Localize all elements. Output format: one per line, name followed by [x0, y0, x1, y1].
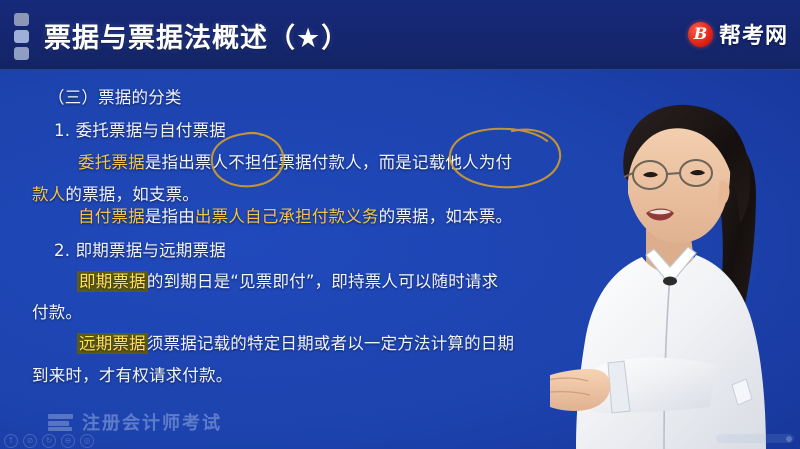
slide-line-item-2: 2. 即期票据与远期票据: [54, 237, 226, 261]
header-mark-1: [14, 13, 29, 26]
lecture-video-frame: 票据与票据法概述（★） B 帮考网 （三）票据的分类 1. 委托票据与自付票据 …: [0, 0, 800, 449]
slide-line-1-def-b-rest: 的票据，如支票。: [65, 185, 199, 204]
slide-line-item-1: 1. 委托票据与自付票据: [54, 117, 226, 141]
player-control-3[interactable]: ↻: [42, 434, 56, 448]
header-mark-2: [14, 30, 29, 43]
term-zifu-piaoju: 自付票据: [78, 207, 145, 226]
page-title: 票据与票据法概述（★）: [44, 16, 349, 55]
watermark-text: 注册会计师考试: [82, 409, 222, 435]
watermark: 注册会计师考试: [48, 409, 222, 435]
player-control-5[interactable]: ◎: [80, 434, 94, 448]
slide-line-4-cont: 到来时，才有权请求付款。: [32, 362, 232, 386]
slide-line-1-def-a: 委托票据是指出票人不担任票据付款人，而是记载他人为付: [78, 149, 512, 173]
slide-header-bar: 票据与票据法概述（★） B 帮考网: [0, 0, 800, 70]
slide-line-3-def-rest: 的到期日是“见票即付”，即持票人可以随时请求: [147, 272, 499, 291]
term-chupiaoren-chengdan: 出票人自己承担付款义务: [195, 207, 379, 226]
term-weituo-piaoju: 委托票据: [78, 153, 145, 172]
header-decor-marks: [14, 13, 29, 60]
header-mark-3: [14, 47, 29, 60]
presenter-figure: [550, 89, 800, 449]
slide-line-1-def-b: 款人的票据，如支票。: [32, 181, 199, 205]
slide-line-1-def-a-rest: 是指出票人不担任票据付款人，而是记载他人为付: [145, 153, 512, 172]
player-progress-pill[interactable]: [716, 434, 794, 443]
player-controls[interactable]: ↑ ⊘ ↻ ⊖ ◎: [4, 434, 94, 448]
term-kuanren: 款人: [32, 185, 65, 204]
slide-line-4-def: 远期票据须票据记载的特定日期或者以一定方法计算的日期: [78, 330, 514, 354]
slide-line-2-def-end: 的票据，如本票。: [379, 207, 513, 226]
slide-line-2-def-mid: 是指由: [145, 207, 195, 226]
presenter-collar-stud: [663, 277, 677, 286]
slide-line-3-def: 即期票据的到期日是“见票即付”，即持票人可以随时请求: [78, 268, 498, 292]
player-control-1[interactable]: ↑: [4, 434, 18, 448]
slide-line-2-def: 自付票据是指由出票人自己承担付款义务的票据，如本票。: [78, 203, 512, 227]
brand-badge-icon: B: [688, 22, 713, 47]
slide-line-section-heading: （三）票据的分类: [48, 84, 182, 108]
player-control-2[interactable]: ⊘: [23, 434, 37, 448]
player-control-4[interactable]: ⊖: [61, 434, 75, 448]
book-icon: [48, 414, 73, 431]
brand-logo: B 帮考网: [688, 18, 788, 50]
brand-name: 帮考网: [719, 18, 788, 50]
slide-line-4-def-rest: 须票据记载的特定日期或者以一定方法计算的日期: [147, 334, 514, 353]
term-yuanqi-piaoju: 远期票据: [78, 334, 147, 353]
term-jiqi-piaoju: 即期票据: [78, 272, 147, 291]
slide-line-3-cont: 付款。: [32, 299, 82, 323]
